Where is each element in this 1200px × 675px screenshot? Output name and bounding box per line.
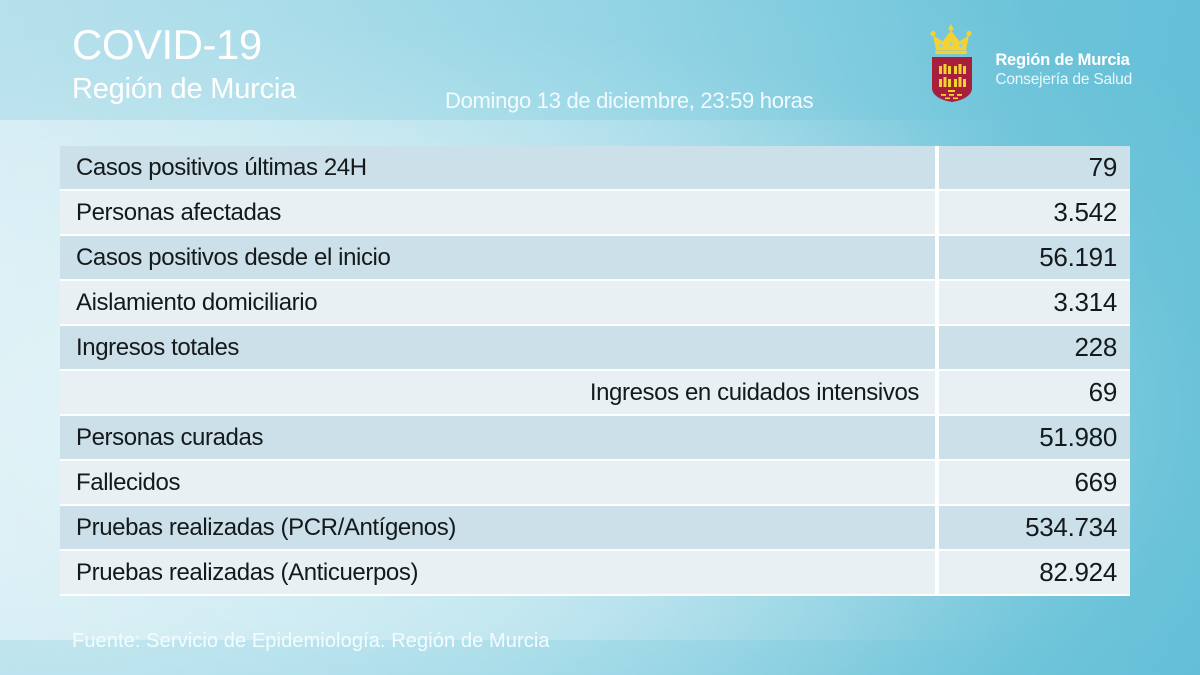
stat-label: Ingresos en cuidados intensivos: [60, 370, 935, 415]
table-row: Casos positivos últimas 24H79: [60, 146, 1130, 191]
stat-label: Ingresos totales: [60, 325, 935, 370]
covid-stats-slide: COVID-19 Región de Murcia Domingo 13 de …: [0, 0, 1200, 675]
crown-and-shield-icon: [930, 24, 986, 102]
title-block: COVID-19 Región de Murcia: [72, 20, 296, 108]
report-timestamp: Domingo 13 de diciembre, 23:59 horas: [445, 88, 813, 114]
stat-label: Casos positivos desde el inicio: [60, 235, 935, 280]
table-row: Personas afectadas3.542: [60, 191, 1130, 236]
table-row: Pruebas realizadas (PCR/Antígenos)534.73…: [60, 506, 1130, 551]
stat-label: Pruebas realizadas (PCR/Antígenos): [60, 505, 935, 550]
table-row: Casos positivos desde el inicio56.191: [60, 236, 1130, 281]
covid-stats-table: Casos positivos últimas 24H79Personas af…: [60, 146, 1130, 596]
logo-region-label: Región de Murcia: [995, 50, 1132, 70]
stat-value: 69: [939, 370, 1130, 415]
table-row: Pruebas realizadas (Anticuerpos)82.924: [60, 551, 1130, 596]
stat-value: 3.542: [939, 190, 1130, 235]
stat-value: 56.191: [939, 235, 1130, 280]
stat-label: Personas curadas: [60, 415, 935, 460]
stat-label: Casos positivos últimas 24H: [60, 145, 935, 190]
stat-label: Pruebas realizadas (Anticuerpos): [60, 550, 935, 595]
source-note: Fuente: Servicio de Epidemiología. Regió…: [72, 630, 550, 653]
header: COVID-19 Región de Murcia Domingo 13 de …: [60, 14, 1140, 134]
page-title: COVID-19: [72, 20, 296, 70]
logo-mark: [930, 24, 986, 102]
stat-value: 3.314: [939, 280, 1130, 325]
murcia-shield-icon: [932, 57, 972, 102]
stat-value: 79: [939, 145, 1130, 190]
stat-label: Aislamiento domiciliario: [60, 280, 935, 325]
stat-value: 51.980: [939, 415, 1130, 460]
table-row: Aislamiento domiciliario3.314: [60, 281, 1130, 326]
stat-label: Personas afectadas: [60, 190, 935, 235]
table-row: Ingresos totales228: [60, 326, 1130, 371]
table-row: Fallecidos669: [60, 461, 1130, 506]
page-subtitle: Región de Murcia: [72, 70, 296, 108]
stat-value: 534.734: [939, 505, 1130, 550]
stat-value: 82.924: [939, 550, 1130, 595]
crown-icon: [931, 25, 972, 54]
logo-department-label: Consejería de Salud: [995, 70, 1132, 89]
table-row: Personas curadas51.980: [60, 416, 1130, 461]
region-de-murcia-logo: Región de Murcia Consejería de Salud: [930, 24, 1132, 102]
stat-label: Fallecidos: [60, 460, 935, 505]
stat-value: 228: [939, 325, 1130, 370]
table-row: Ingresos en cuidados intensivos69: [60, 371, 1130, 416]
stat-value: 669: [939, 460, 1130, 505]
logo-text: Región de Murcia Consejería de Salud: [995, 24, 1132, 89]
